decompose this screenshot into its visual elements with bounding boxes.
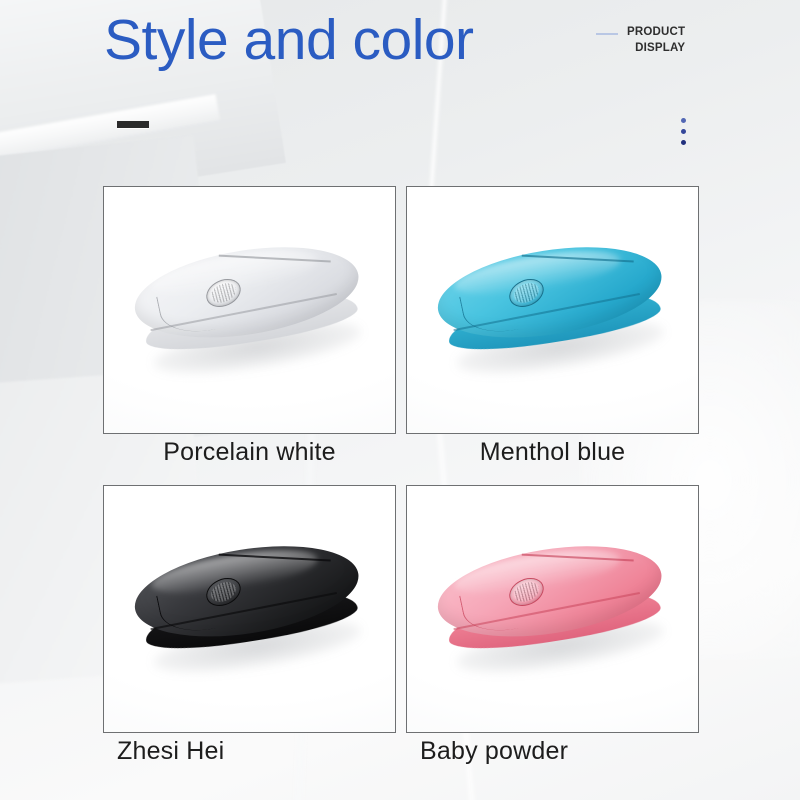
page-title: Style and color bbox=[104, 8, 474, 74]
product-card-porcelain-white[interactable] bbox=[103, 186, 396, 434]
product-label-zhesi-hei: Zhesi Hei bbox=[103, 737, 410, 766]
product-label-baby-powder: Baby powder bbox=[406, 737, 713, 766]
product-card-zhesi-hei[interactable] bbox=[103, 485, 396, 733]
badge-line-icon bbox=[596, 33, 618, 35]
laptop-edge-highlight bbox=[0, 94, 220, 172]
dash-accent-icon bbox=[117, 121, 149, 128]
badge-label: PRODUCT DISPLAY bbox=[627, 25, 685, 56]
product-cell: Baby powder bbox=[406, 485, 699, 733]
product-label-menthol-blue: Menthol blue bbox=[406, 438, 699, 467]
product-cell: Menthol blue bbox=[406, 186, 699, 434]
product-card-baby-powder[interactable] bbox=[406, 485, 699, 733]
product-label-porcelain-white: Porcelain white bbox=[103, 438, 396, 467]
ellipsis-dot-3 bbox=[681, 140, 686, 145]
product-cell: Zhesi Hei bbox=[103, 485, 396, 733]
vertical-ellipsis-icon[interactable] bbox=[681, 118, 686, 145]
product-grid: Porcelain white Menthol blue bbox=[103, 186, 699, 733]
product-cell: Porcelain white bbox=[103, 186, 396, 434]
ellipsis-dot-1 bbox=[681, 118, 686, 123]
product-card-menthol-blue[interactable] bbox=[406, 186, 699, 434]
product-display-badge: PRODUCT DISPLAY bbox=[596, 25, 685, 56]
ellipsis-dot-2 bbox=[681, 129, 686, 134]
product-display-page: Style and color PRODUCT DISPLAY bbox=[0, 0, 800, 800]
